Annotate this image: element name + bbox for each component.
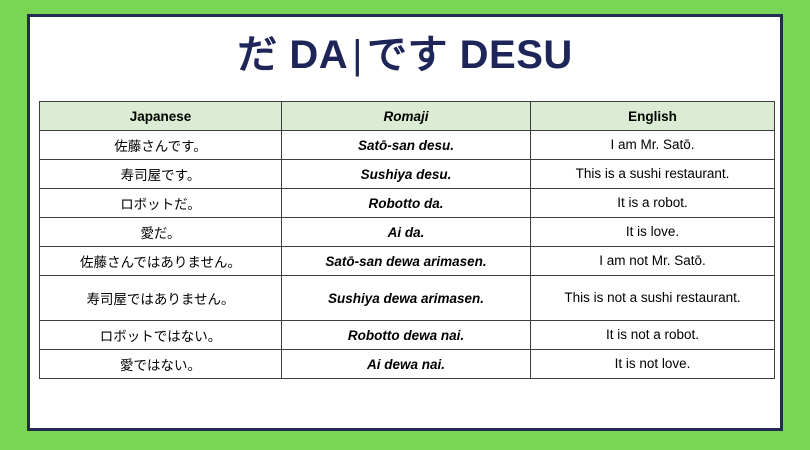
cell-romaji: Ai dewa nai. <box>282 350 531 379</box>
cell-romaji: Robotto da. <box>282 189 531 218</box>
cell-english: It is not love. <box>531 350 775 379</box>
cell-japanese: 佐藤さんです。 <box>40 131 282 160</box>
title-separator: | <box>348 33 367 77</box>
cell-japanese: 愛だ。 <box>40 218 282 247</box>
table-row: 愛ではない。 Ai dewa nai. It is not love. <box>40 350 775 379</box>
cell-japanese: 寿司屋です。 <box>40 160 282 189</box>
table-row: 寿司屋です。 Sushiya desu. This is a sushi res… <box>40 160 775 189</box>
table-row: ロボットだ。 Robotto da. It is a robot. <box>40 189 775 218</box>
cell-english: It is not a robot. <box>531 321 775 350</box>
title-part-desu: です DESU <box>367 33 573 77</box>
slide-canvas: だ DA|です DESU Japanese Romaji English <box>0 0 810 450</box>
cell-romaji: Ai da. <box>282 218 531 247</box>
table-row: 寿司屋ではありません。 Sushiya dewa arimasen. This … <box>40 276 775 321</box>
cell-romaji: Sushiya dewa arimasen. <box>282 276 531 321</box>
title-part-da: だ DA <box>237 33 348 77</box>
cell-english: This is a sushi restaurant. <box>531 160 775 189</box>
column-header-english: English <box>531 102 775 131</box>
table-row: 愛だ。 Ai da. It is love. <box>40 218 775 247</box>
cell-japanese: 愛ではない。 <box>40 350 282 379</box>
cell-english: It is love. <box>531 218 775 247</box>
phrase-table-container: Japanese Romaji English 佐藤さんです。 Satō-san… <box>39 101 774 379</box>
cell-english: This is not a sushi restaurant. <box>531 276 775 321</box>
column-header-romaji: Romaji <box>282 102 531 131</box>
cell-japanese: 佐藤さんではありません。 <box>40 247 282 276</box>
cell-japanese: ロボットではない。 <box>40 321 282 350</box>
column-header-japanese: Japanese <box>40 102 282 131</box>
content-card: だ DA|です DESU Japanese Romaji English <box>27 14 783 431</box>
cell-romaji: Sushiya desu. <box>282 160 531 189</box>
cell-english: I am Mr. Satō. <box>531 131 775 160</box>
page-title: だ DA|です DESU <box>30 33 780 77</box>
table-header: Japanese Romaji English <box>40 102 775 131</box>
cell-romaji: Satō-san dewa arimasen. <box>282 247 531 276</box>
table-row: 佐藤さんではありません。 Satō-san dewa arimasen. I a… <box>40 247 775 276</box>
table-row: 佐藤さんです。 Satō-san desu. I am Mr. Satō. <box>40 131 775 160</box>
table-header-row: Japanese Romaji English <box>40 102 775 131</box>
cell-romaji: Satō-san desu. <box>282 131 531 160</box>
cell-english: It is a robot. <box>531 189 775 218</box>
cell-romaji: Robotto dewa nai. <box>282 321 531 350</box>
cell-japanese: ロボットだ。 <box>40 189 282 218</box>
table-body: 佐藤さんです。 Satō-san desu. I am Mr. Satō. 寿司… <box>40 131 775 379</box>
table-row: ロボットではない。 Robotto dewa nai. It is not a … <box>40 321 775 350</box>
cell-japanese: 寿司屋ではありません。 <box>40 276 282 321</box>
phrase-table: Japanese Romaji English 佐藤さんです。 Satō-san… <box>39 101 775 379</box>
cell-english: I am not Mr. Satō. <box>531 247 775 276</box>
